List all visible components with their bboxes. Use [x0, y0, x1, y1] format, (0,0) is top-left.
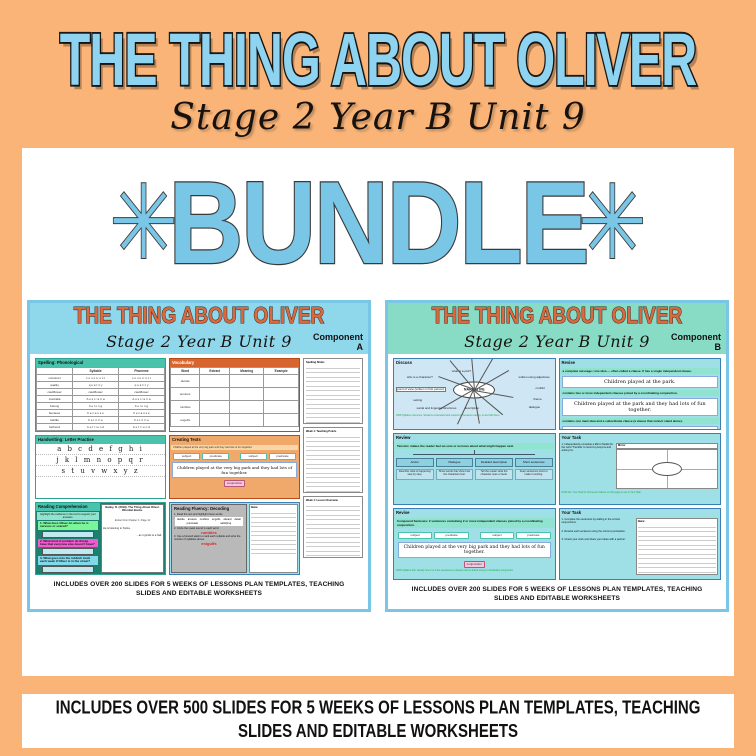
table-row: belongb e l o n gb e l o n g: [37, 402, 165, 409]
discuss-footnote: NSW Syllabus reference: Students underst…: [394, 413, 555, 418]
panel-vocabulary[interactable]: Vocabulary Word Extract Meaning Example …: [169, 358, 300, 432]
revise-row-desc: a complete message / one idea — often ca…: [561, 368, 720, 374]
rc-extract-line: He is listening to Sylvia,: [103, 527, 162, 530]
panel-revise-top-heading: Revise: [560, 359, 721, 367]
bottom-banner-text: INCLUDES OVER 500 SLIDES FOR 5 WEEKS OF …: [56, 698, 701, 744]
table-row: decide: [171, 374, 299, 387]
rf-word: anxious: [188, 518, 197, 521]
narrative-mindmap: NARRATIVE what is a plot?: [394, 367, 555, 413]
mindmap-node: conflict: [536, 386, 545, 390]
rf-word: detail: [235, 518, 241, 521]
panel-spelling[interactable]: Spelling: Phonological Syllable Phoneme …: [35, 358, 166, 432]
panel-discuss-heading: Discuss: [394, 359, 555, 367]
asterisk-right-icon: ✳: [578, 173, 647, 276]
table-row: rumbles: [171, 400, 299, 413]
panel-creating-texts-heading: Creating Texts: [170, 436, 299, 444]
rf-example-2: en/gulfs: [172, 541, 246, 546]
card-a-header: THE THING ABOUT OLIVER Stage 2 Year B Un…: [30, 303, 368, 354]
rc-extract-source: Extract from Chapter 3 • Page 14: [103, 519, 162, 522]
revise-sentence: Children played at the park.: [562, 376, 719, 388]
bundle-heading: ✳ BUNDLE ✳: [22, 148, 734, 300]
mindmap-node: written using adjectives: [519, 375, 550, 379]
panel-vocabulary-heading: Vocabulary: [170, 359, 299, 367]
rc-answer-field[interactable]: [42, 531, 94, 538]
table-row: constructc o n s t r u c tc o n s t r u …: [37, 374, 165, 381]
panel-revise-top[interactable]: Revise a complete message / one idea — o…: [559, 358, 722, 430]
main-canvas: ✳ BUNDLE ✳ THE THING ABOUT OLIVER Stage …: [22, 148, 734, 676]
doc-thumb-lesson-overview[interactable]: Week 1: Lesson Overview: [303, 496, 363, 558]
tag-conjunction: conjunction: [464, 561, 485, 568]
handwriting-line: j k l m n o p q r: [36, 455, 165, 466]
your-task-worksheet-thumb[interactable]: Name:: [636, 518, 718, 575]
doc-thumb-spelling[interactable]: Spelling Slides: [303, 358, 363, 424]
creating-texts-banner: Children played at the very big park and…: [171, 445, 298, 450]
tag-subject-1: subject: [173, 453, 200, 460]
review-banner: Tension: makes the reader feel un-sure o…: [395, 443, 554, 449]
panel-spelling-heading: Spelling: Phonological: [36, 359, 165, 367]
revise-sentence: Children played at the park while their …: [562, 426, 719, 430]
review-box: Detailed description: [475, 458, 513, 467]
mindmap-node: description: [465, 406, 480, 410]
tag-predicate-1: predicate: [434, 532, 468, 539]
panel-revise-bottom-heading: Revise: [394, 509, 555, 517]
table-row: qualityq u a l i t yq u a l i t y: [37, 381, 165, 388]
rf-word: engulfs: [212, 518, 220, 521]
rc-extract-title: Bailey, D. (2019). The Thing About Olive…: [103, 506, 162, 513]
card-b-header: THE THING ABOUT OLIVER Stage 2 Year B Un…: [388, 303, 726, 354]
review-box: Short sentences: [515, 458, 553, 467]
rf-worksheet-thumb: Name:: [249, 504, 298, 573]
your-task-step: 2. Rewrite each sentence using the corre…: [562, 530, 634, 533]
doc-thumb-teaching-points[interactable]: Week 1: Teaching Points: [303, 427, 363, 493]
review-leaf: Tell the reader what the character sees …: [475, 469, 513, 480]
table-row: befriendb e f r i e n db e f r i e n d: [37, 423, 165, 430]
page-header: THE THING ABOUT OLIVER Stage 2 Year B Un…: [0, 0, 756, 150]
spelling-table: Syllable Phoneme constructc o n s t r u …: [36, 367, 165, 431]
panel-reading-comprehension-heading: Reading Comprehension: [36, 503, 100, 511]
your-task-footnote: NSW link: Your Task for this lesson foll…: [560, 490, 721, 495]
mindmap-node: setting: [413, 398, 422, 402]
mindmap-node: social and linguistic structures: [416, 406, 456, 410]
card-b-component-label: Component: [671, 332, 721, 342]
spelling-col-2: Phoneme: [119, 367, 165, 374]
your-task-instruction: 1. Independently complete a Mirror Model…: [562, 443, 615, 489]
rc-instruction: Highlight the evidence in the text to su…: [37, 512, 99, 520]
table-row: engulfs: [171, 413, 299, 426]
rf-word: rumbles: [200, 518, 209, 521]
panel-review[interactable]: Review Tension: makes the reader feel un…: [393, 433, 556, 505]
panel-creating-texts[interactable]: Creating Texts Children played at the ve…: [169, 435, 300, 499]
mindmap-node: theme: [533, 397, 541, 401]
table-row: anxious: [171, 387, 299, 400]
mindmap-node: who is a character?: [407, 375, 433, 379]
card-a-caption: INCLUDES OVER 200 SLIDES FOR 5 WEEKS OF …: [30, 577, 368, 604]
rf-word: decide: [177, 518, 185, 521]
review-leaf: Describe what is happening step by step.: [396, 469, 434, 480]
rf-word: aboard: [223, 518, 231, 521]
review-box: Action: [396, 458, 434, 467]
card-a-slides: Spelling: Phonological Syllable Phoneme …: [30, 354, 368, 577]
tag-subject-2: subject: [240, 453, 267, 460]
tag-conjunction: conjunction: [224, 480, 245, 487]
card-b-slides: Discuss NARRATIVE: [388, 354, 726, 582]
bundle-word: BUNDLE: [168, 165, 587, 282]
rc-question: 3. What goes into the rubbish truck each…: [38, 556, 98, 565]
revise-sentence: Children played at the park and they had…: [562, 398, 719, 416]
product-cards: THE THING ABOUT OLIVER Stage 2 Year B Un…: [22, 300, 734, 612]
tag-subject-2: subject: [480, 532, 514, 539]
your-task-step: 1. Complete the sentences by adding in t…: [562, 518, 634, 525]
spelling-col-0: [37, 367, 73, 374]
rf-word: punctuate: [187, 522, 198, 525]
panel-handwriting-heading: Handwriting: Letter Practise: [36, 436, 165, 444]
panel-reading-comprehension[interactable]: Reading Comprehension Highlight the evid…: [35, 502, 166, 575]
table-row: AustraliaA u s t r a l i aA u s t r a l …: [37, 395, 165, 402]
product-card-a[interactable]: THE THING ABOUT OLIVER Stage 2 Year B Un…: [27, 300, 371, 612]
revise-bottom-footnote: NSW Syllabus link: identify how 2 or mor…: [394, 568, 555, 573]
rc-extract-line: ...as it grinds to a halt.: [103, 534, 162, 537]
rc-answer-field[interactable]: [42, 548, 94, 555]
card-a-component-badge: Component A: [313, 333, 363, 352]
rf-word: satisfying: [220, 522, 231, 525]
card-a-component-label: Component: [313, 332, 363, 342]
panel-handwriting[interactable]: Handwriting: Letter Practise a b c d e f…: [35, 435, 166, 499]
panel-your-task-top-heading: Your Task: [560, 434, 721, 442]
table-row: belittleb e l i t t l eb e l i t t l e: [37, 416, 165, 423]
card-b-caption: INCLUDES OVER 200 SLIDES FOR 5 WEEKS OF …: [388, 582, 726, 609]
card-b-component-badge: Component B: [671, 333, 721, 352]
tag-predicate-2: predicate: [516, 532, 550, 539]
your-task-step: 3. Check your work and share your ideas …: [562, 538, 634, 541]
review-leaf: Keep sentences short to make it exciting…: [515, 469, 553, 480]
panel-revise-bottom[interactable]: Revise Compound Sentence: 2 sentences co…: [393, 508, 556, 580]
review-box: Dialogue: [436, 458, 474, 467]
panel-reading-fluency[interactable]: Reading Fluency: Decoding 1. Read the te…: [169, 502, 300, 575]
page-title: THE THING ABOUT OLIVER: [0, 0, 756, 99]
tag-subject-1: subject: [398, 532, 432, 539]
panel-reading-fluency-heading: Reading Fluency: Decoding: [172, 505, 246, 513]
handwriting-line: a b c d e f g h i: [36, 444, 165, 455]
review-box-row: Action Dialogue Detailed description Sho…: [394, 457, 555, 468]
panel-discuss[interactable]: Discuss NARRATIVE: [393, 358, 556, 430]
revise-bottom-sentence: Children played at the very big park and…: [398, 542, 551, 558]
mindmap-node: what is a plot?: [452, 369, 471, 373]
product-card-b[interactable]: THE THING ABOUT OLIVER Stage 2 Year B Un…: [385, 300, 729, 612]
spelling-col-1: Syllable: [73, 367, 119, 374]
panel-your-task-bottom[interactable]: Your Task 1. Complete the sentences by a…: [559, 508, 722, 580]
table-row: cauliflowercauliflowercauliflower: [37, 388, 165, 395]
card-b-title: THE THING ABOUT OLIVER: [394, 305, 720, 329]
handwriting-line: s t u v w x y z: [36, 466, 165, 477]
review-leaf: Show words that show how the characters …: [436, 469, 474, 480]
table-row: becauseb e c a u s eb e c a u s e: [37, 409, 165, 416]
mindmap-node: dialogue: [529, 405, 540, 409]
mirror-model-organizer[interactable]: [616, 449, 718, 489]
rc-question: 1. What does Oliver do when he is nervou…: [38, 521, 98, 530]
revise-row-desc: contains two or more independent clauses…: [561, 390, 720, 396]
review-leaf-row: Describe what is happening step by step.…: [394, 468, 555, 481]
rc-question: 2. What kind of problem do things have t…: [38, 539, 98, 548]
bottom-banner: INCLUDES OVER 500 SLIDES FOR 5 WEEKS OF …: [22, 694, 734, 748]
rc-answer-field[interactable]: [42, 566, 94, 573]
card-a-doc-column: Spelling Slides Week 1: Teaching Points …: [303, 358, 363, 575]
creating-texts-sentence: Children played at the very big park and…: [172, 462, 297, 478]
mindmap-node: point of view (written in first person): [396, 387, 446, 393]
panel-your-task-bottom-heading: Your Task: [560, 509, 721, 517]
card-a-component-letter: A: [357, 342, 364, 352]
rf-step: 1. Read the text and highlight these wor…: [172, 513, 246, 516]
tag-predicate-1: predicate: [202, 453, 229, 460]
card-a-title: THE THING ABOUT OLIVER: [36, 305, 362, 329]
revise-row-desc: contains one main idea and a subordinate…: [561, 418, 720, 424]
vocabulary-table: Word Extract Meaning Example decide anxi…: [170, 367, 299, 427]
panel-review-heading: Review: [394, 434, 555, 442]
revise-bottom-banner: Compound Sentence: 2 sentences containin…: [395, 518, 554, 528]
tag-predicate-2: predicate: [269, 453, 296, 460]
card-b-component-letter: B: [715, 342, 722, 352]
panel-your-task-top[interactable]: Your Task 1. Independently complete a Mi…: [559, 433, 722, 505]
